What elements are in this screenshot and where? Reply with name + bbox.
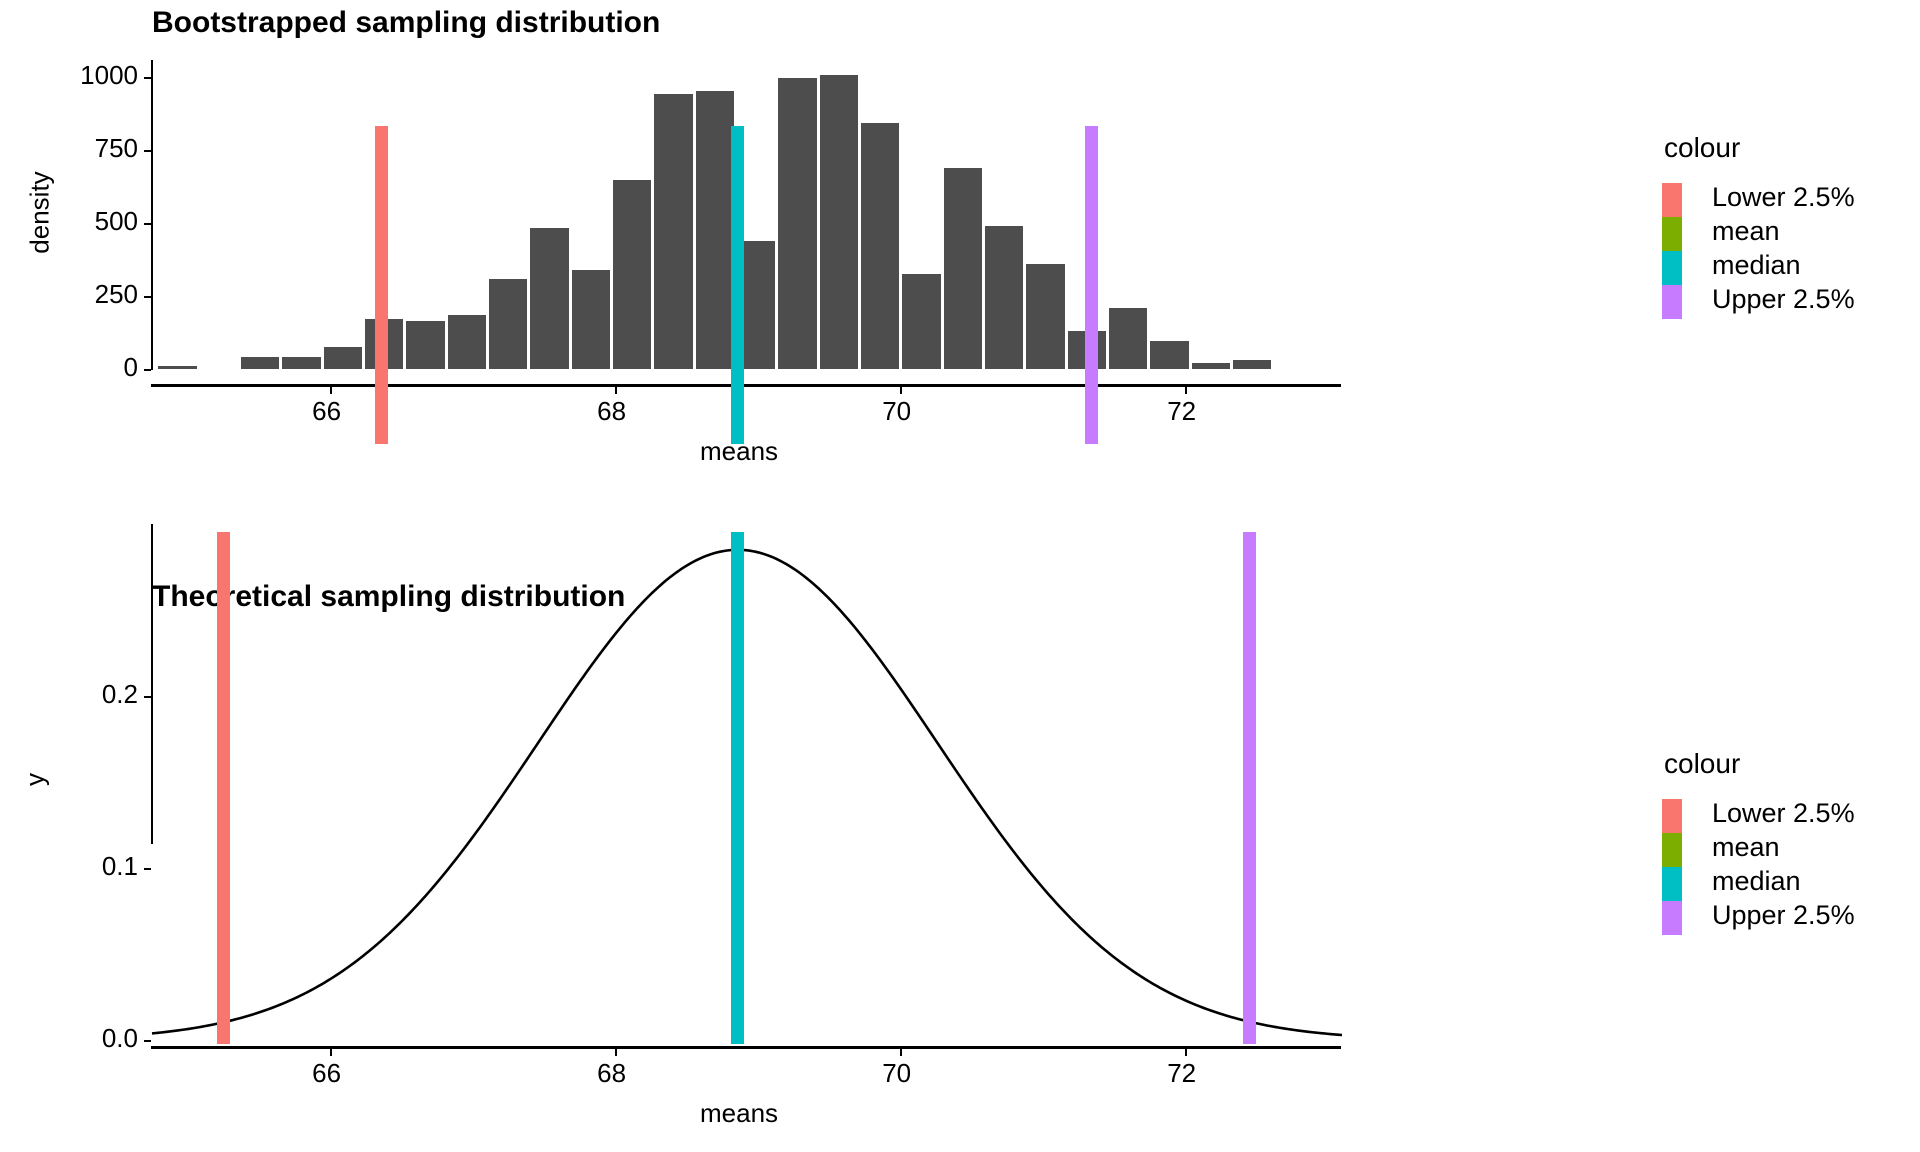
- histogram-bar: [572, 270, 610, 369]
- x-tick-label: 70: [882, 1058, 911, 1089]
- histogram-bar: [241, 357, 279, 369]
- legend-key-lower-2-5: [1662, 183, 1682, 217]
- histogram-bar: [778, 78, 816, 370]
- y-axis-label-bottom: y: [20, 720, 51, 840]
- legend-label-mean: mean: [1712, 830, 1855, 864]
- x-tick-mark: [615, 1049, 617, 1056]
- y-tick-label: 750: [95, 133, 138, 164]
- x-tick-mark: [1185, 387, 1187, 394]
- legend-key-swatches-bottom: [1662, 799, 1682, 935]
- legend-label-upper-2-5: Upper 2.5%: [1712, 282, 1855, 316]
- page-title: Bootstrapped sampling distribution: [152, 6, 660, 40]
- histogram-bar: [1192, 363, 1230, 369]
- histogram-bar: [282, 357, 320, 369]
- legend-label-upper-2-5: Upper 2.5%: [1712, 898, 1855, 932]
- panel-bootstrapped: Bootstrapped sampling distribution 02505…: [0, 0, 1920, 576]
- histogram-bar: [448, 315, 486, 369]
- legend-label-lower-2-5: Lower 2.5%: [1712, 180, 1855, 214]
- legend-key-swatches-top: [1662, 183, 1682, 319]
- histogram-bar: [902, 274, 940, 369]
- legend-key-upper-2-5: [1662, 901, 1682, 935]
- histogram-bar: [696, 91, 734, 369]
- legend-key-upper-2-5: [1662, 285, 1682, 319]
- reference-line-lower-2-5: [217, 532, 230, 1044]
- y-tick-label: 250: [95, 279, 138, 310]
- legend-label-median: median: [1712, 864, 1855, 898]
- histogram-bar: [158, 366, 196, 369]
- histogram-bars: [152, 60, 1342, 370]
- histogram-bar: [530, 228, 568, 369]
- x-axis-label-bottom: means: [700, 1098, 778, 1129]
- y-tick-mark: [144, 77, 151, 79]
- y-tick-mark: [144, 369, 151, 371]
- x-tick-mark: [1185, 1049, 1187, 1056]
- histogram-bar: [985, 226, 1023, 369]
- legend-key-median: [1662, 251, 1682, 285]
- reference-line-median: [731, 126, 744, 444]
- x-tick-mark: [900, 1049, 902, 1056]
- histogram-bar: [613, 180, 651, 369]
- legend-top: colour Lower 2.5%meanmedianUpper 2.5%: [1662, 132, 1855, 319]
- histogram-bar: [1109, 308, 1147, 369]
- histogram-bar: [324, 347, 362, 369]
- legend-title-bottom: colour: [1664, 748, 1855, 780]
- x-tick-mark: [330, 1049, 332, 1056]
- histogram-bar: [406, 321, 444, 369]
- legend-label-mean: mean: [1712, 214, 1855, 248]
- x-tick-label: 66: [312, 1058, 341, 1089]
- y-tick-label: 500: [95, 206, 138, 237]
- x-tick-label: 68: [597, 396, 626, 427]
- y-tick-mark: [144, 150, 151, 152]
- histogram-bar: [489, 279, 527, 369]
- histogram-bar: [944, 168, 982, 369]
- legend-key-lower-2-5: [1662, 799, 1682, 833]
- histogram-bar: [1233, 360, 1271, 369]
- x-tick-mark: [330, 387, 332, 394]
- x-tick-label: 72: [1167, 396, 1196, 427]
- histogram-bar: [1150, 341, 1188, 369]
- y-tick-label: 1000: [80, 60, 138, 91]
- x-axis-label-top: means: [700, 436, 778, 467]
- histogram-bar: [861, 123, 899, 369]
- histogram-bar: [820, 75, 858, 369]
- y-tick-label: 0: [124, 352, 138, 383]
- normal-density-curve: [152, 524, 1342, 844]
- plot-area-bootstrapped: [152, 60, 1342, 370]
- reference-line-lower-2-5: [375, 126, 388, 444]
- x-tick-label: 70: [882, 396, 911, 427]
- legend-label-median: median: [1712, 248, 1855, 282]
- y-tick-mark: [144, 696, 151, 698]
- reference-line-upper-2-5: [1085, 126, 1098, 444]
- y-tick-mark: [144, 1040, 151, 1042]
- y-tick-mark: [144, 296, 151, 298]
- y-tick-mark: [144, 223, 151, 225]
- legend-key-median: [1662, 867, 1682, 901]
- y-tick-label: 0.1: [102, 851, 138, 882]
- reference-line-upper-2-5: [1243, 532, 1256, 1044]
- legend-entry-labels-bottom: Lower 2.5%meanmedianUpper 2.5%: [1712, 796, 1855, 932]
- x-tick-label: 68: [597, 1058, 626, 1089]
- x-tick-mark: [900, 387, 902, 394]
- reference-line-median: [731, 532, 744, 1044]
- histogram-bar: [654, 94, 692, 369]
- legend-bottom: colour Lower 2.5%meanmedianUpper 2.5%: [1662, 748, 1855, 935]
- legend-key-mean: [1662, 217, 1682, 251]
- x-tick-label: 66: [312, 396, 341, 427]
- histogram-bar: [1026, 264, 1064, 369]
- y-axis-label-top: density: [25, 152, 56, 272]
- legend-label-lower-2-5: Lower 2.5%: [1712, 796, 1855, 830]
- legend-title-top: colour: [1664, 132, 1855, 164]
- figure-canvas: Bootstrapped sampling distribution 02505…: [0, 0, 1920, 1152]
- plot-area-theoretical: [152, 524, 1342, 844]
- y-tick-label: 0.2: [102, 679, 138, 710]
- x-tick-mark: [615, 387, 617, 394]
- legend-entry-labels-top: Lower 2.5%meanmedianUpper 2.5%: [1712, 180, 1855, 316]
- x-tick-label: 72: [1167, 1058, 1196, 1089]
- legend-key-mean: [1662, 833, 1682, 867]
- y-tick-mark: [144, 868, 151, 870]
- y-tick-label: 0.0: [102, 1023, 138, 1054]
